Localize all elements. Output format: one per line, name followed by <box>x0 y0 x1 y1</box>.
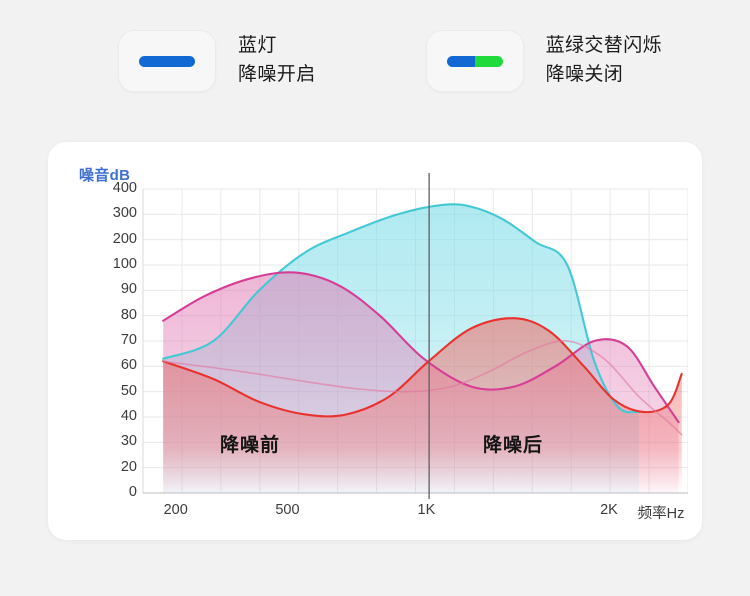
y-axis-tick: 80 <box>91 307 137 323</box>
indicator-segment-blue <box>447 56 475 67</box>
legend-on-line1: 蓝灯 <box>238 32 316 61</box>
y-axis-tick: 200 <box>91 231 137 247</box>
y-axis-tick: 90 <box>91 281 137 297</box>
blue-green-indicator-card <box>426 30 524 92</box>
y-axis-tick: 0 <box>91 484 137 500</box>
indicator-segment-blue <box>139 56 195 67</box>
indicator-segment-green <box>475 56 503 67</box>
y-axis-tick: 20 <box>91 459 137 475</box>
legend-on-line2: 降噪开启 <box>238 61 316 90</box>
legend-off-line2: 降噪关闭 <box>546 61 662 90</box>
legend-row: 蓝灯 降噪开启 蓝绿交替闪烁 降噪关闭 <box>0 30 750 130</box>
y-axis-tick: 70 <box>91 332 137 348</box>
y-axis-tick: 30 <box>91 433 137 449</box>
legend-text-off: 蓝绿交替闪烁 降噪关闭 <box>546 32 662 90</box>
x-axis-tick: 200 <box>156 502 196 518</box>
y-axis-tick: 400 <box>91 180 137 196</box>
y-axis-tick: 50 <box>91 383 137 399</box>
x-axis-tick: 500 <box>267 502 307 518</box>
noise-curves-svg <box>48 142 702 540</box>
blue-light-indicator <box>139 56 195 67</box>
legend-off-line1: 蓝绿交替闪烁 <box>546 32 662 61</box>
legend-item-noise-cancel-off: 蓝绿交替闪烁 降噪关闭 <box>426 30 662 92</box>
zone-label-before: 降噪前 <box>220 430 280 457</box>
y-axis-tick: 100 <box>91 256 137 272</box>
plot-area <box>48 142 702 540</box>
legend-text-on: 蓝灯 降噪开启 <box>238 32 316 90</box>
blue-light-indicator-card <box>118 30 216 92</box>
legend-item-noise-cancel-on: 蓝灯 降噪开启 <box>118 30 316 92</box>
x-axis-tick: 2K <box>589 502 629 518</box>
noise-chart-card: 噪音dB 降噪前 降噪后 400300200100908070605040302… <box>48 142 702 540</box>
x-axis-tick: 1K <box>406 502 446 518</box>
x-axis-title: 频率Hz <box>626 502 696 523</box>
y-axis-tick: 40 <box>91 408 137 424</box>
zone-label-after: 降噪后 <box>483 430 543 457</box>
y-axis-tick: 300 <box>91 205 137 221</box>
blue-green-blinking-indicator <box>447 56 503 67</box>
y-axis-tick: 60 <box>91 357 137 373</box>
plot-right-mask <box>688 187 702 495</box>
